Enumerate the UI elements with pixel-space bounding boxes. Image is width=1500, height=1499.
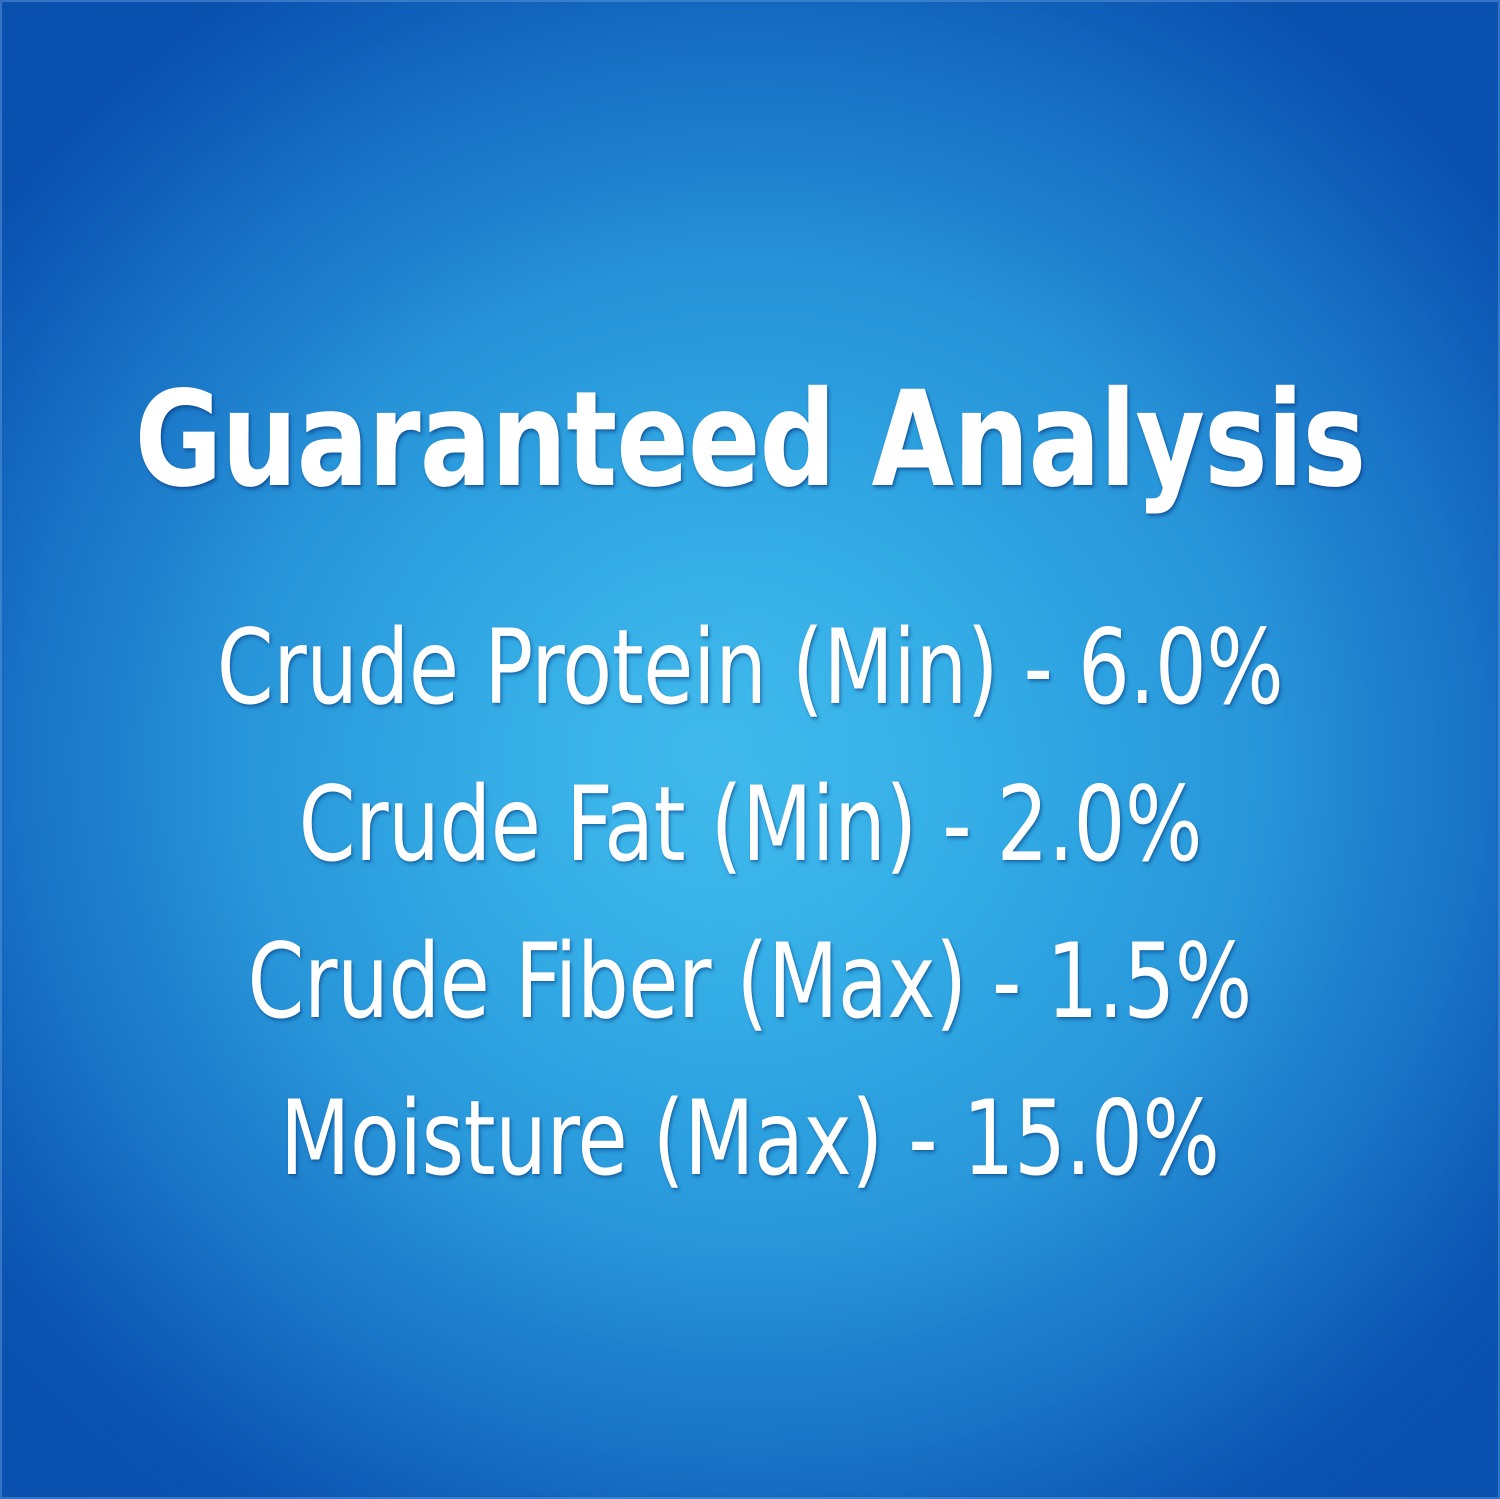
analysis-row-crude-fat: Crude Fat (Min) - 2.0% bbox=[298, 747, 1201, 904]
analysis-row-crude-fiber: Crude Fiber (Max) - 1.5% bbox=[248, 904, 1252, 1061]
panel-content: Guaranteed Analysis Crude Protein (Min) … bbox=[0, 0, 1500, 1499]
analysis-row-moisture: Moisture (Max) - 15.0% bbox=[280, 1061, 1219, 1218]
page-title: Guaranteed Analysis bbox=[75, 374, 1425, 506]
analysis-row-crude-protein: Crude Protein (Min) - 6.0% bbox=[217, 590, 1284, 747]
guaranteed-analysis-panel: Guaranteed Analysis Crude Protein (Min) … bbox=[0, 0, 1500, 1499]
analysis-list: Crude Protein (Min) - 6.0% Crude Fat (Mi… bbox=[0, 590, 1500, 1218]
